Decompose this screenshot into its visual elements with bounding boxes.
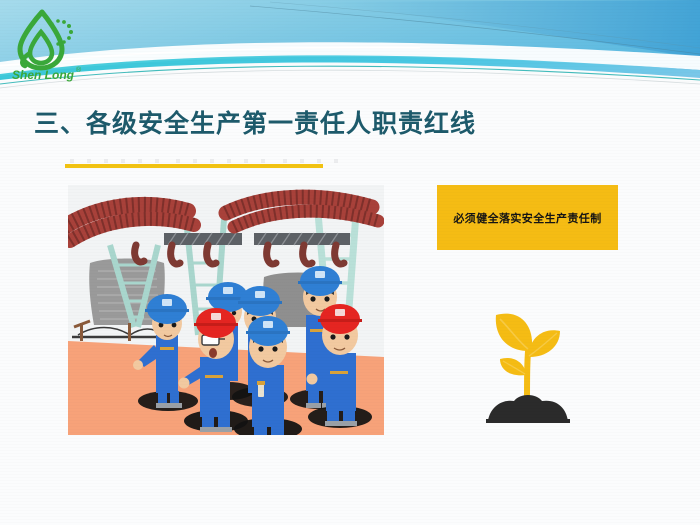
- busbar-gantry-left: [164, 233, 242, 245]
- header-wave-band: [0, 0, 700, 104]
- logo-registered-mark: ®: [76, 66, 82, 74]
- page-title: 三、各级安全生产第一责任人职责红线: [34, 104, 476, 140]
- callout-text: 必须健全落实安全生产责任制: [453, 210, 601, 226]
- slide-canvas: Shen Long ® 三、各级安全生产第一责任人职责红线: [0, 0, 700, 525]
- yellow-seedling-graphic: [470, 295, 585, 425]
- substation-workers-scene: [68, 185, 384, 435]
- gold-divider-rule: [65, 164, 323, 168]
- seedling-icon: [470, 295, 585, 425]
- shen-long-logo[interactable]: Shen Long ®: [8, 8, 94, 82]
- logo-wordmark: Shen Long: [12, 68, 75, 82]
- soil-mound: [488, 395, 568, 421]
- illustration-electrical-workers: [68, 185, 384, 435]
- water-drop-icon: Shen Long ®: [8, 8, 94, 82]
- header-wave-graphic: [0, 0, 700, 104]
- callout-box: 必须健全落实安全生产责任制: [437, 185, 618, 250]
- ghost-text-artifacts: [70, 152, 390, 161]
